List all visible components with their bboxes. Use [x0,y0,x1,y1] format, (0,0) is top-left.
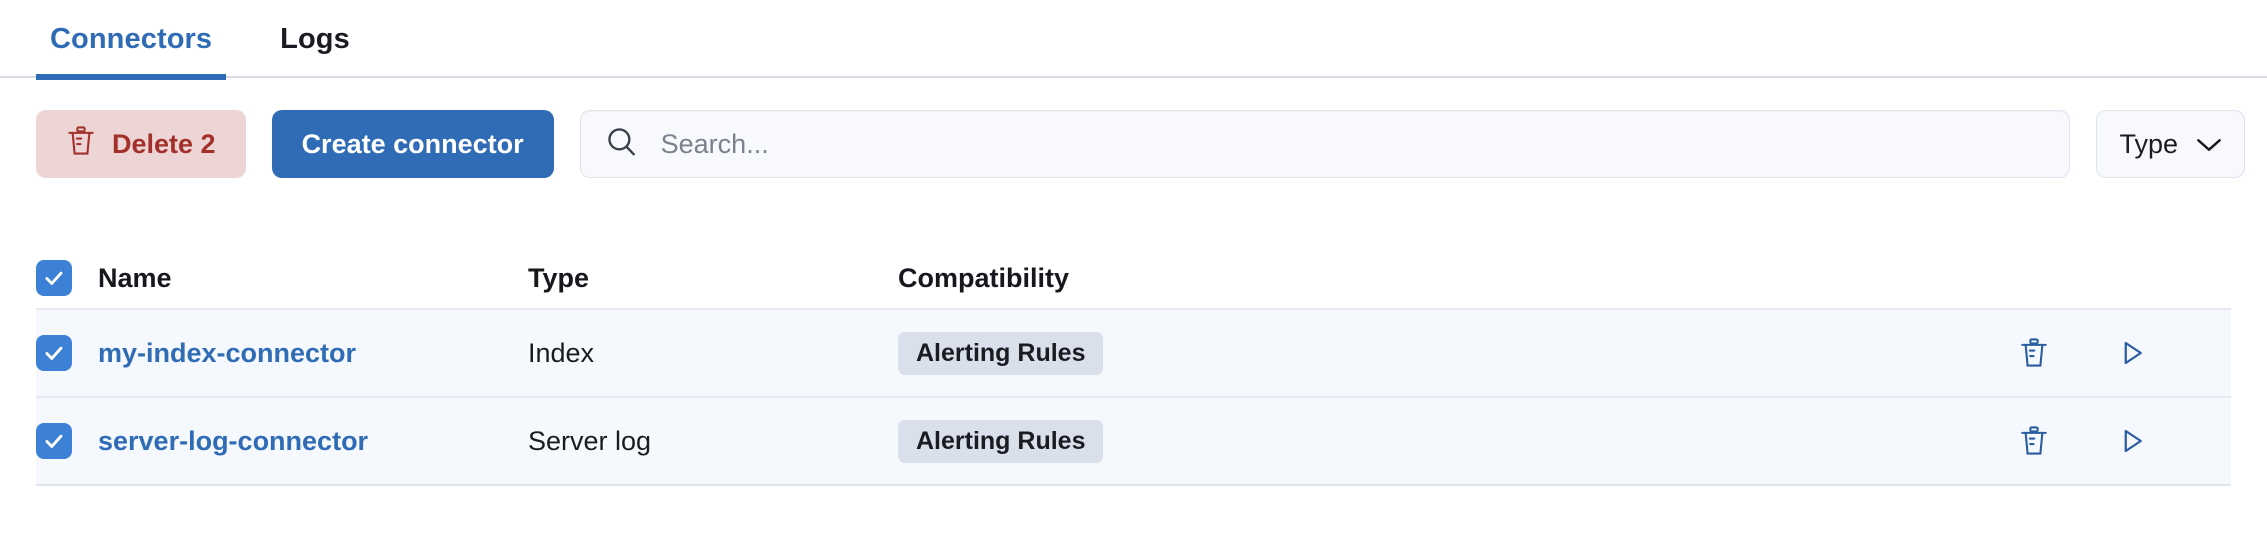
compatibility-badge: Alerting Rules [898,332,1103,375]
connectors-page: Connectors Logs Delete 2 Create connecto… [0,0,2267,537]
row-name-cell: my-index-connector [98,338,528,369]
search-input[interactable] [659,111,2046,177]
row-select-cell [36,335,98,371]
column-header-type[interactable]: Type [528,263,898,294]
tab-connectors-label: Connectors [50,23,212,56]
select-all-checkbox[interactable] [36,260,72,296]
connectors-table: Name Type Compatibility my-index-connect… [36,248,2231,486]
toolbar: Delete 2 Create connector Type [0,78,2267,210]
row-type-cell: Index [528,338,898,369]
row-delete-icon[interactable] [2011,418,2057,464]
row-select-cell [36,423,98,459]
type-filter-dropdown[interactable]: Type [2096,110,2245,178]
row-name-cell: server-log-connector [98,426,528,457]
row-run-icon[interactable] [2109,330,2155,376]
tab-logs[interactable]: Logs [266,0,364,78]
table-row[interactable]: server-log-connector Server log Alerting… [36,398,2231,486]
create-connector-button[interactable]: Create connector [272,110,554,178]
delete-button[interactable]: Delete 2 [36,110,246,178]
connector-name-link[interactable]: server-log-connector [98,426,368,456]
search-box[interactable] [580,110,2071,178]
create-connector-label: Create connector [302,129,524,160]
search-icon [605,125,639,164]
row-delete-icon[interactable] [2011,330,2057,376]
table-row[interactable]: my-index-connector Index Alerting Rules [36,310,2231,398]
connector-name-link[interactable]: my-index-connector [98,338,356,368]
tab-connectors[interactable]: Connectors [36,0,226,78]
table-header-row: Name Type Compatibility [36,248,2231,310]
row-checkbox[interactable] [36,335,72,371]
delete-button-label: Delete 2 [112,129,216,160]
row-compatibility-cell: Alerting Rules [898,332,2001,375]
row-actions-cell [2001,418,2231,464]
type-filter-label: Type [2119,129,2178,160]
row-checkbox[interactable] [36,423,72,459]
column-header-compatibility[interactable]: Compatibility [898,263,2001,294]
tab-bar: Connectors Logs [0,0,2267,78]
row-actions-cell [2001,330,2231,376]
row-compatibility-cell: Alerting Rules [898,420,2001,463]
compatibility-badge: Alerting Rules [898,420,1103,463]
chevron-down-icon [2196,129,2222,160]
tab-logs-label: Logs [280,23,350,56]
select-all-cell [36,260,98,296]
row-type-cell: Server log [528,426,898,457]
trash-icon [66,125,96,164]
column-header-name[interactable]: Name [98,263,528,294]
row-run-icon[interactable] [2109,418,2155,464]
